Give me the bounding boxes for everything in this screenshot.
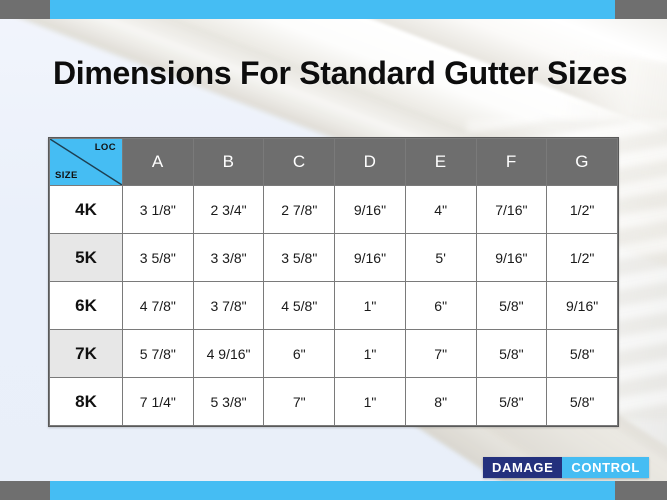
row-size-label: 5K	[50, 234, 123, 282]
corner-loc-label: LOC	[95, 142, 116, 153]
cell-5k-b: 3 3/8"	[193, 234, 264, 282]
cell-6k-a: 4 7/8"	[123, 282, 194, 330]
top-accent-bar	[0, 0, 667, 19]
cell-4k-g: 1/2"	[547, 186, 618, 234]
bottom-bar-blue	[50, 481, 615, 500]
column-header-b: B	[193, 139, 264, 186]
bottom-accent-bar	[0, 481, 667, 500]
column-header-f: F	[476, 139, 547, 186]
column-header-a: A	[123, 139, 194, 186]
column-header-g: G	[547, 139, 618, 186]
bottom-bar-gray-right	[615, 481, 667, 500]
cell-6k-e: 6"	[405, 282, 476, 330]
cell-6k-b: 3 7/8"	[193, 282, 264, 330]
table-row: 4K 3 1/8" 2 3/4" 2 7/8" 9/16" 4" 7/16" 1…	[50, 186, 618, 234]
dimensions-table: LOC SIZE A B C D E F G 4K 3 1/8" 2 3/4"	[49, 138, 618, 426]
row-size-label: 7K	[50, 330, 123, 378]
cell-5k-d: 9/16"	[335, 234, 406, 282]
top-bar-blue	[50, 0, 615, 19]
cell-5k-c: 3 5/8"	[264, 234, 335, 282]
column-header-c: C	[264, 139, 335, 186]
table-row: 6K 4 7/8" 3 7/8" 4 5/8" 1" 6" 5/8" 9/16"	[50, 282, 618, 330]
cell-6k-d: 1"	[335, 282, 406, 330]
cell-6k-c: 4 5/8"	[264, 282, 335, 330]
table-header: LOC SIZE A B C D E F G	[50, 139, 618, 186]
table-row: 5K 3 5/8" 3 3/8" 3 5/8" 9/16" 5' 9/16" 1…	[50, 234, 618, 282]
cell-5k-g: 1/2"	[547, 234, 618, 282]
table-row: 7K 5 7/8" 4 9/16" 6" 1" 7" 5/8" 5/8"	[50, 330, 618, 378]
brand-logo: DAMAGE CONTROL	[483, 457, 649, 478]
cell-5k-f: 9/16"	[476, 234, 547, 282]
column-header-d: D	[335, 139, 406, 186]
bottom-bar-gray-left	[0, 481, 50, 500]
cell-8k-a: 7 1/4"	[123, 378, 194, 426]
cell-8k-d: 1"	[335, 378, 406, 426]
table-header-row: LOC SIZE A B C D E F G	[50, 139, 618, 186]
slide-root: Dimensions For Standard Gutter Sizes LOC…	[0, 0, 667, 500]
cell-4k-f: 7/16"	[476, 186, 547, 234]
cell-8k-e: 8"	[405, 378, 476, 426]
top-bar-gray-left	[0, 0, 50, 19]
cell-8k-g: 5/8"	[547, 378, 618, 426]
row-size-label: 4K	[50, 186, 123, 234]
cell-8k-c: 7"	[264, 378, 335, 426]
cell-4k-d: 9/16"	[335, 186, 406, 234]
cell-7k-g: 5/8"	[547, 330, 618, 378]
cell-4k-c: 2 7/8"	[264, 186, 335, 234]
cell-4k-b: 2 3/4"	[193, 186, 264, 234]
logo-word-control: CONTROL	[562, 457, 648, 478]
cell-7k-a: 5 7/8"	[123, 330, 194, 378]
cell-7k-b: 4 9/16"	[193, 330, 264, 378]
cell-5k-a: 3 5/8"	[123, 234, 194, 282]
table-row: 8K 7 1/4" 5 3/8" 7" 1" 8" 5/8" 5/8"	[50, 378, 618, 426]
top-bar-gray-right	[615, 0, 667, 19]
cell-7k-d: 1"	[335, 330, 406, 378]
cell-7k-e: 7"	[405, 330, 476, 378]
cell-4k-a: 3 1/8"	[123, 186, 194, 234]
cell-6k-f: 5/8"	[476, 282, 547, 330]
cell-8k-f: 5/8"	[476, 378, 547, 426]
column-header-e: E	[405, 139, 476, 186]
dimensions-table-container: LOC SIZE A B C D E F G 4K 3 1/8" 2 3/4"	[48, 137, 619, 427]
cell-6k-g: 9/16"	[547, 282, 618, 330]
cell-5k-e: 5'	[405, 234, 476, 282]
cell-7k-c: 6"	[264, 330, 335, 378]
cell-8k-b: 5 3/8"	[193, 378, 264, 426]
row-size-label: 6K	[50, 282, 123, 330]
corner-size-label: SIZE	[55, 170, 78, 181]
corner-header-cell: LOC SIZE	[50, 139, 123, 186]
cell-7k-f: 5/8"	[476, 330, 547, 378]
cell-4k-e: 4"	[405, 186, 476, 234]
table-body: 4K 3 1/8" 2 3/4" 2 7/8" 9/16" 4" 7/16" 1…	[50, 186, 618, 426]
logo-word-damage: DAMAGE	[483, 457, 562, 478]
page-title: Dimensions For Standard Gutter Sizes	[53, 55, 627, 92]
row-size-label: 8K	[50, 378, 123, 426]
